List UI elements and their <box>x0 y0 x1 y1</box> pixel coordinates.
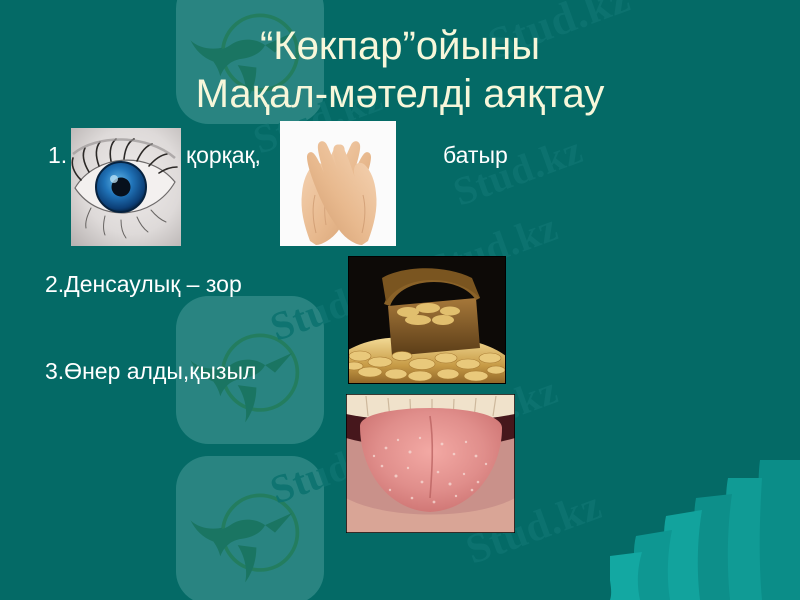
eye-photo <box>71 128 181 246</box>
list-item-1-end-text: батыр <box>443 142 508 168</box>
stud-kz-bird-logo <box>176 456 324 600</box>
list-item-1-middle-text: қорқақ, <box>186 142 261 168</box>
corner-wave-decoration <box>610 460 800 600</box>
presentation-slide: Stud.kz Stud.kz Stud.kz Stud.kz - Stud.k… <box>0 0 800 600</box>
treasure-photo <box>348 256 506 384</box>
list-item-3: 3.Өнер алды,қызыл <box>45 358 256 384</box>
bird-glyph <box>188 468 312 592</box>
list-item-1-number: 1. <box>48 142 67 168</box>
watermark-text: Stud.kz <box>447 126 589 216</box>
hands-photo <box>280 121 396 246</box>
list-item-2: 2.Денсаулық – зор <box>45 271 242 297</box>
logo-badge <box>176 456 324 600</box>
tongue-photo <box>346 394 515 533</box>
slide-title: “Көкпар”ойыны Мақал-мәтелді аяқтау <box>0 22 800 118</box>
